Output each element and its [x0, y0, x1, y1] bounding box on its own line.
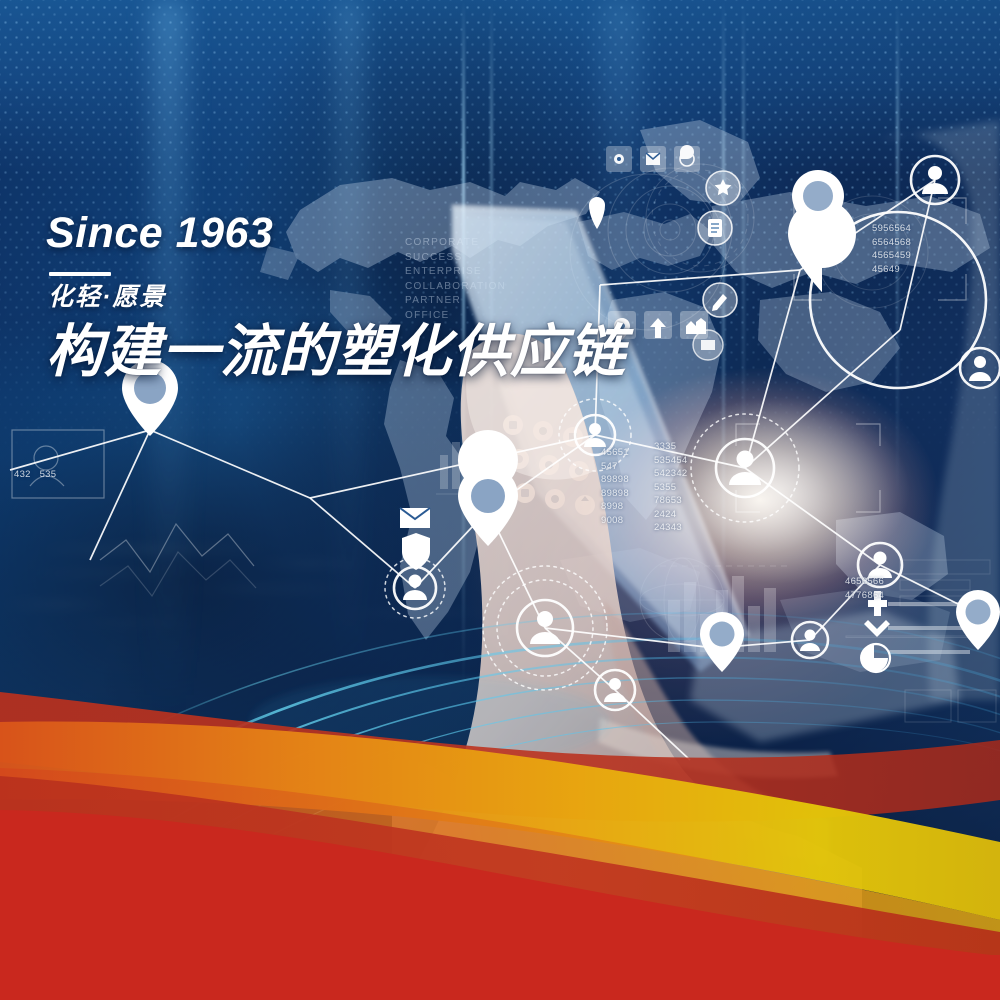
icon-chip-row-top — [606, 145, 700, 172]
data-column: 5956564 6564568 4565459 45649 — [872, 222, 911, 276]
shield-icon — [402, 533, 430, 570]
envelope-icon — [400, 508, 430, 528]
person-node — [960, 348, 1000, 388]
vision-label: 化轻·愿景 — [48, 285, 626, 310]
banner-image: CORPORATE SUCCESS ENTERPRISE COLLABORATI… — [0, 0, 1000, 1000]
bottom-wave-graphic — [0, 670, 1000, 1000]
data-column: 45651 547 89898 89898 8998 9008 — [601, 446, 629, 527]
icon-stack-right — [860, 591, 890, 672]
data-column: 4656566 4776864 — [845, 575, 884, 602]
page-title: 构建一流的塑化供应链 — [46, 322, 626, 384]
badge-icon-group — [698, 211, 732, 245]
map-pin-node — [458, 430, 518, 546]
map-pin-node — [956, 590, 1000, 650]
data-column: 432 535 — [14, 468, 56, 482]
headline-block: Since 1963 化轻·愿景 构建一流的塑化供应链 — [46, 212, 626, 384]
person-node — [792, 622, 828, 658]
map-pin-node — [700, 612, 744, 672]
since-label: Since 1963 — [46, 212, 626, 255]
person-node — [911, 156, 959, 204]
divider-rule — [49, 272, 111, 276]
data-column: 3335 535454 542342 5355 78653 2424 24343 — [654, 440, 688, 535]
badge-icon-group — [703, 283, 737, 317]
badge-icon-group — [706, 171, 740, 205]
